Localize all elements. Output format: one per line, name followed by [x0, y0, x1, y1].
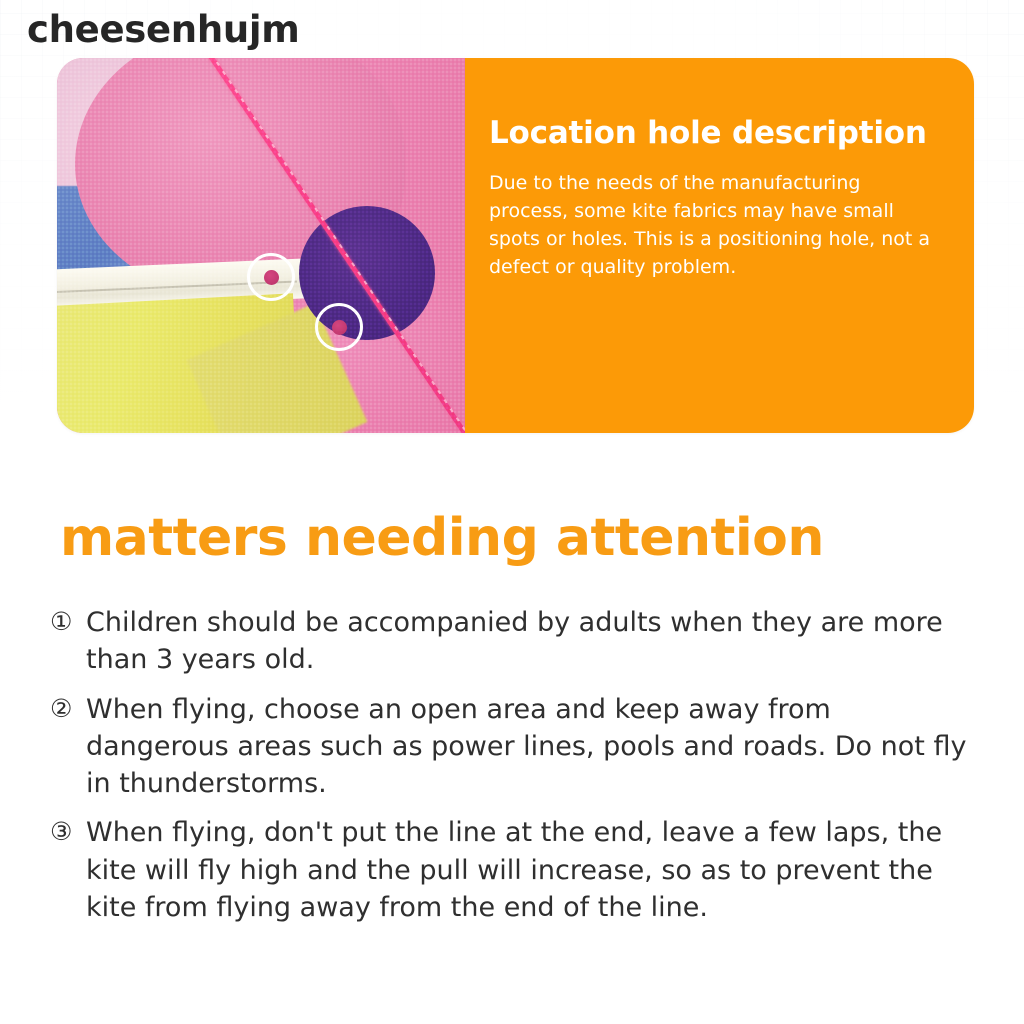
panel-body-text: Due to the needs of the manufacturing pr…: [489, 170, 944, 282]
photo-fabric-weave-texture: [57, 58, 465, 433]
attention-list: ① Children should be accompanied by adul…: [50, 604, 980, 938]
annotation-circle-upper: [247, 253, 295, 301]
list-item-text-2: When flying, choose an open area and kee…: [86, 691, 980, 803]
list-item-text-3: When flying, don't put the line at the e…: [86, 814, 980, 926]
attention-heading: matters needing attention: [60, 510, 824, 567]
list-item-marker-2: ②: [50, 691, 86, 727]
list-item: ① Children should be accompanied by adul…: [50, 604, 980, 679]
list-item: ③ When flying, don't put the line at the…: [50, 814, 980, 926]
location-hole-card: Location hole description Due to the nee…: [57, 58, 974, 433]
watermark-seller-name: cheesenhujm: [27, 11, 300, 48]
panel-title: Location hole description: [489, 116, 944, 150]
kite-fabric-photo: [57, 58, 465, 433]
description-panel: Location hole description Due to the nee…: [465, 58, 974, 433]
list-item-text-1: Children should be accompanied by adults…: [86, 604, 980, 679]
list-item-marker-3: ③: [50, 814, 86, 850]
list-item: ② When flying, choose an open area and k…: [50, 691, 980, 803]
list-item-marker-1: ①: [50, 604, 86, 640]
annotation-circle-lower: [315, 303, 363, 351]
